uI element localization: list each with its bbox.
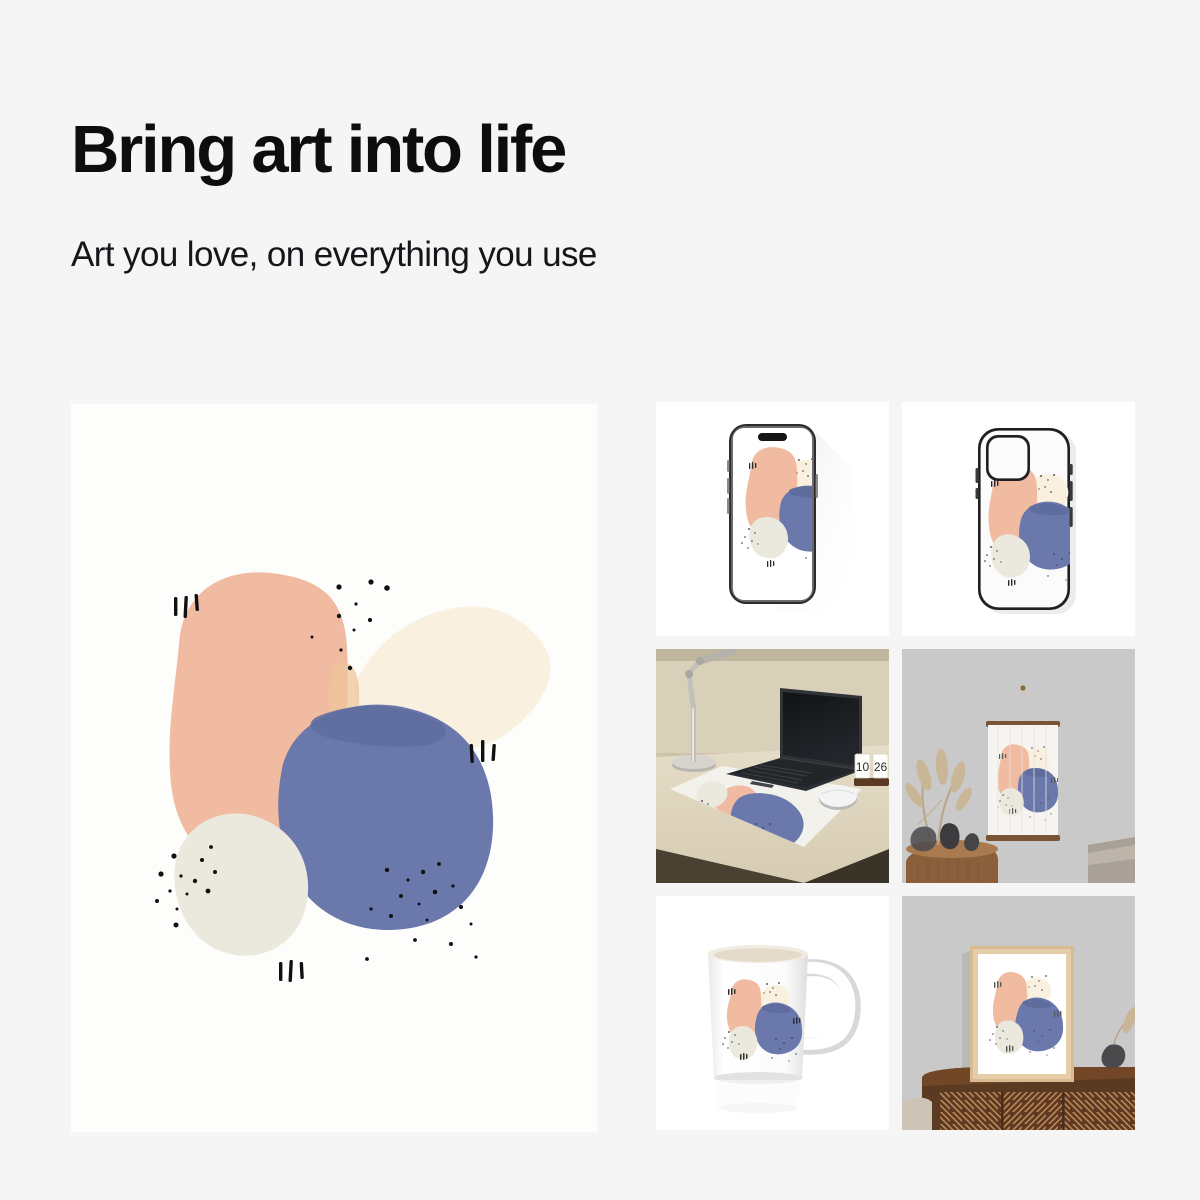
mockup-tile-ceramic-mug[interactable]: [656, 896, 889, 1130]
hero-artwork-card[interactable]: [71, 404, 597, 1132]
desk-calendar-left-number: 10: [856, 760, 870, 774]
mockup-tile-phone-case[interactable]: [902, 402, 1135, 636]
abstract-shapes-poster: [71, 404, 597, 1132]
promo-page: Bring art into life Art you love, on eve…: [0, 0, 1200, 1200]
mockup-tile-desk-mat[interactable]: 10 26: [656, 649, 889, 883]
page-title: Bring art into life: [71, 116, 971, 183]
mockup-tile-hanging-poster[interactable]: [902, 649, 1135, 883]
page-subtitle: Art you love, on everything you use: [71, 183, 971, 275]
desk-calendar-right-number: 26: [874, 760, 888, 774]
mockup-tile-smartphone-wallpaper[interactable]: [656, 402, 889, 636]
product-mockup-grid: 10 26: [656, 402, 1135, 1136]
header: Bring art into life Art you love, on eve…: [71, 116, 971, 275]
mockup-tile-framed-print[interactable]: [902, 896, 1135, 1130]
